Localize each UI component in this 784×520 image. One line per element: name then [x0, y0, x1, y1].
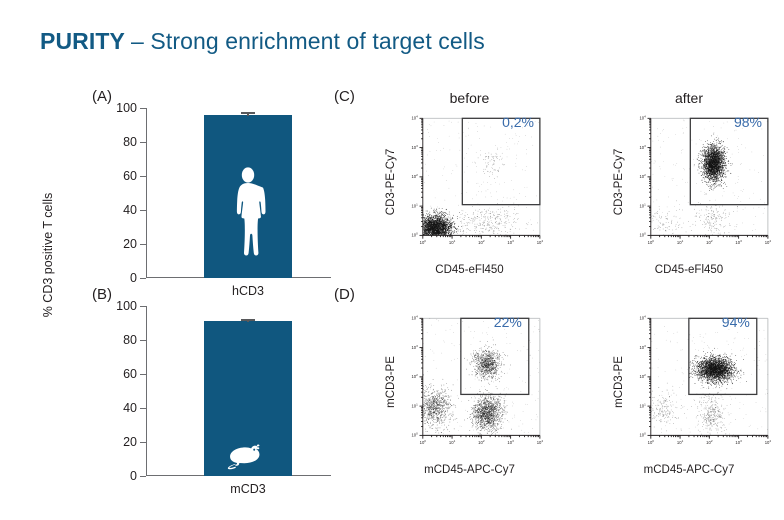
svg-text:102: 102	[478, 239, 485, 245]
human-silhouette-icon	[228, 160, 268, 272]
svg-text:103: 103	[411, 144, 418, 150]
svg-text:104: 104	[765, 239, 772, 245]
error-bar-cap	[241, 112, 255, 113]
panel-label-c: (C)	[334, 88, 355, 105]
y-tick-label: 0	[130, 271, 137, 285]
x-category-label: hCD3	[204, 284, 292, 298]
y-tick	[140, 374, 146, 375]
y-tick-label: 60	[123, 367, 137, 381]
y-tick-label: 80	[123, 135, 137, 149]
mouse-silhouette-icon	[225, 440, 271, 470]
svg-text:103: 103	[639, 144, 646, 150]
gate-percentage-label: 94%	[708, 314, 750, 330]
scatter-canvas: 100100101101102102103103104104	[638, 310, 784, 462]
svg-text:102: 102	[706, 239, 713, 245]
panel-label-a: (A)	[92, 88, 112, 105]
plot-area: 020406080100 mCD3	[146, 306, 331, 476]
svg-text:104: 104	[411, 114, 418, 120]
svg-text:100: 100	[648, 239, 655, 245]
y-tick	[140, 244, 146, 245]
svg-text:101: 101	[639, 202, 646, 208]
panel-label-b: (B)	[92, 286, 112, 303]
bar	[204, 321, 292, 476]
figure-root: PURITY – Strong enrichment of target cel…	[0, 0, 784, 520]
svg-text:104: 104	[639, 114, 646, 120]
svg-text:103: 103	[735, 239, 742, 245]
gate-percentage-label: 98%	[720, 114, 762, 130]
svg-text:102: 102	[411, 173, 418, 179]
bar	[204, 115, 292, 278]
y-tick	[140, 176, 146, 177]
y-axis-label: mCD3-PE	[613, 327, 625, 437]
panel-label-d: (D)	[334, 286, 355, 303]
page-title-strong: PURITY	[40, 28, 131, 54]
page-title: PURITY – Strong enrichment of target cel…	[40, 28, 485, 55]
y-tick	[140, 278, 146, 279]
y-tick	[140, 408, 146, 409]
svg-text:100: 100	[411, 232, 418, 238]
panel-a-bar-chart: 020406080100 hCD3	[98, 108, 333, 304]
y-tick-label: 0	[130, 469, 137, 483]
y-tick	[140, 210, 146, 211]
panel-c-after-plot: afterCD3-PE-Cy7 100100101101102102103103…	[600, 92, 778, 282]
event-dots	[423, 121, 539, 235]
y-tick	[140, 108, 146, 109]
y-tick	[140, 476, 146, 477]
svg-text:102: 102	[639, 173, 646, 179]
plot-title: after	[600, 90, 778, 106]
y-tick	[140, 340, 146, 341]
y-tick-label: 80	[123, 333, 137, 347]
svg-text:104: 104	[537, 239, 544, 245]
bar-charts-y-axis-title: % CD3 positive T cells	[41, 155, 55, 355]
panel-b-bar-chart: 020406080100 mCD3	[98, 306, 333, 502]
y-tick-label: 20	[123, 237, 137, 251]
x-axis-label: CD45-eFl450	[600, 264, 778, 276]
gate-percentage-label: 22%	[480, 314, 522, 330]
y-axis-line	[146, 306, 147, 476]
y-tick-label: 100	[116, 299, 137, 313]
y-tick-label: 20	[123, 435, 137, 449]
y-tick	[140, 306, 146, 307]
y-axis-line	[146, 108, 147, 278]
svg-text:101: 101	[449, 239, 456, 245]
y-tick	[140, 442, 146, 443]
svg-text:103: 103	[507, 239, 514, 245]
page-title-light: – Strong enrichment of target cells	[131, 28, 485, 54]
error-bar-cap	[241, 319, 255, 320]
event-dots	[651, 319, 769, 435]
panel-d-after-plot: mCD3-PE 100100101101102102103103104104 9…	[600, 292, 778, 482]
scatter-canvas: 100100101101102102103103104104	[638, 110, 784, 262]
panel-c-before-plot: beforeCD3-PE-Cy7 10010010110110210210310…	[372, 92, 567, 282]
panel-d-before-plot: mCD3-PE 100100101101102102103103104104 2…	[372, 292, 567, 482]
svg-text:100: 100	[420, 239, 427, 245]
gate-percentage-label: 0,2%	[492, 114, 534, 130]
svg-text:101: 101	[677, 239, 684, 245]
scatter-canvas: 100100101101102102103103104104	[410, 310, 560, 462]
y-tick	[140, 142, 146, 143]
plot-area: 020406080100 hCD3	[146, 108, 331, 278]
y-tick-label: 40	[123, 203, 137, 217]
y-axis-label: mCD3-PE	[385, 327, 397, 437]
scatter-canvas: 100100101101102102103103104104	[410, 110, 560, 262]
y-axis-label: CD3-PE-Cy7	[385, 127, 397, 237]
x-axis-label: mCD45-APC-Cy7	[372, 464, 567, 476]
svg-text:100: 100	[639, 232, 646, 238]
y-tick-label: 60	[123, 169, 137, 183]
event-dots	[651, 118, 768, 235]
gate-rectangle	[462, 118, 540, 204]
x-axis-label: mCD45-APC-Cy7	[600, 464, 778, 476]
y-tick-label: 40	[123, 401, 137, 415]
y-tick-label: 100	[116, 101, 137, 115]
y-axis-label: CD3-PE-Cy7	[613, 127, 625, 237]
svg-text:101: 101	[411, 202, 418, 208]
plot-title: before	[372, 90, 567, 106]
event-dots	[423, 318, 540, 435]
x-axis-label: CD45-eFl450	[372, 264, 567, 276]
x-category-label: mCD3	[204, 482, 292, 496]
